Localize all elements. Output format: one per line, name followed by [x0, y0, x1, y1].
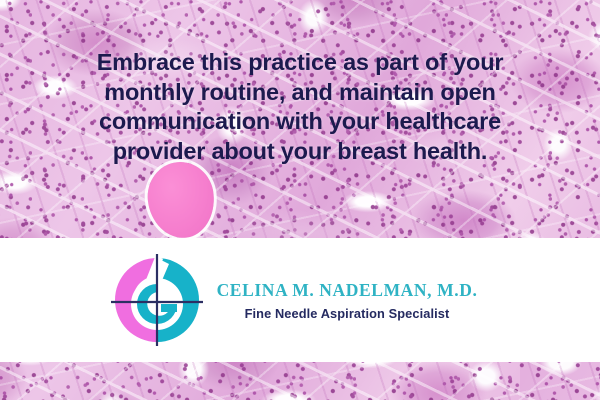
headline-line-3: communication with your healthcare [40, 107, 560, 137]
headline-line-4: provider about your breast health. [40, 137, 560, 167]
histology-gland-strands-bottom [0, 362, 600, 400]
celina-nadelman-circular-g-monogram-icon [111, 254, 203, 346]
headline-line-2: monthly routine, and maintain open [40, 78, 560, 108]
headline-text: Embrace this practice as part of your mo… [0, 48, 600, 166]
social-card: Embrace this practice as part of your mo… [0, 0, 600, 400]
practice-tagline: Fine Needle Aspiration Specialist [245, 306, 450, 321]
logo-band: CELINA M. NADELMAN, M.D. Fine Needle Asp… [0, 238, 600, 362]
brand-lockup: CELINA M. NADELMAN, M.D. Fine Needle Asp… [111, 254, 478, 346]
practice-name: CELINA M. NADELMAN, M.D. [217, 280, 478, 301]
histology-background-bottom [0, 362, 600, 400]
headline-line-1: Embrace this practice as part of your [40, 48, 560, 78]
brand-wordmark: CELINA M. NADELMAN, M.D. Fine Needle Asp… [217, 280, 478, 321]
